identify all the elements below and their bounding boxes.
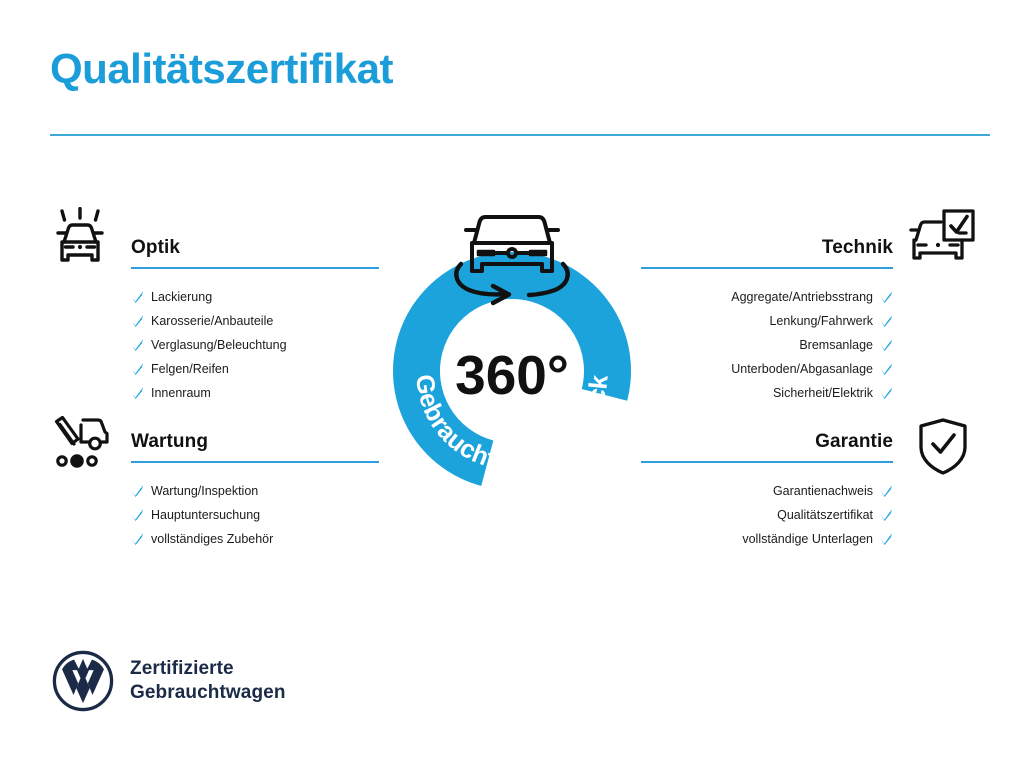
check-icon [880, 386, 893, 400]
list-item: vollständige Unterlagen [641, 527, 893, 551]
check-icon [880, 362, 893, 376]
page-title: Qualitätszertifikat [50, 48, 393, 90]
section-optik: Optik Lackierung Karosserie/Anbauteile V… [131, 238, 379, 405]
list-item-label: Garantienachweis [773, 479, 873, 503]
list-item-label: Qualitätszertifikat [777, 503, 873, 527]
list-item-label: Verglasung/Beleuchtung [151, 333, 287, 357]
list-item: Lenkung/Fahrwerk [641, 309, 893, 333]
list-item-label: Hauptuntersuchung [151, 503, 260, 527]
check-icon [131, 290, 144, 304]
section-title-optik: Optik [131, 238, 379, 259]
section-garantie: Garantie Garantienachweis Qualitätszerti… [641, 432, 893, 551]
section-title-garantie: Garantie [641, 432, 893, 453]
list-item: Verglasung/Beleuchtung [131, 333, 379, 357]
vw-logo [52, 650, 114, 712]
car-checkbox-icon [908, 209, 976, 272]
badge-360-gebrauchtwagen-check: Gebrauchtwagen-Check 360° [381, 196, 643, 488]
checklist-optik: Lackierung Karosserie/Anbauteile Verglas… [131, 285, 379, 405]
section-title-wartung: Wartung [131, 432, 379, 453]
list-item: Innenraum [131, 381, 379, 405]
check-icon [131, 314, 144, 328]
pen-car-service-icon [48, 414, 112, 479]
list-item: Garantienachweis [641, 479, 893, 503]
footer-logo: Zertifizierte Gebrauchtwagen [52, 650, 286, 712]
list-item-label: Wartung/Inspektion [151, 479, 258, 503]
check-icon [880, 290, 893, 304]
check-icon [131, 338, 144, 352]
footer-line-1: Zertifizierte [130, 657, 286, 681]
shield-check-icon [915, 417, 971, 482]
section-divider-wartung [131, 461, 379, 463]
check-icon [131, 386, 144, 400]
list-item: Aggregate/Antriebsstrang [641, 285, 893, 309]
list-item: Unterboden/Abgasanlage [641, 357, 893, 381]
list-item-label: Bremsanlage [799, 333, 873, 357]
badge-center-label: 360° [455, 344, 569, 406]
list-item: Lackierung [131, 285, 379, 309]
footer-logo-text: Zertifizierte Gebrauchtwagen [130, 657, 286, 706]
list-item: Wartung/Inspektion [131, 479, 379, 503]
list-item: Felgen/Reifen [131, 357, 379, 381]
list-item: vollständiges Zubehör [131, 527, 379, 551]
check-icon [131, 362, 144, 376]
list-item: Karosserie/Anbauteile [131, 309, 379, 333]
section-title-technik: Technik [641, 238, 893, 259]
check-icon [131, 508, 144, 522]
check-icon [880, 508, 893, 522]
section-divider-optik [131, 267, 379, 269]
list-item: Hauptuntersuchung [131, 503, 379, 527]
section-wartung: Wartung Wartung/Inspektion Hauptuntersuc… [131, 432, 379, 551]
section-technik: Technik Aggregate/Antriebsstrang Lenkung… [641, 238, 893, 405]
check-icon [880, 338, 893, 352]
list-item-label: vollständiges Zubehör [151, 527, 273, 551]
list-item-label: Lenkung/Fahrwerk [769, 309, 873, 333]
section-divider-garantie [641, 461, 893, 463]
list-item: Sicherheit/Elektrik [641, 381, 893, 405]
check-icon [131, 484, 144, 498]
list-item: Bremsanlage [641, 333, 893, 357]
list-item: Qualitätszertifikat [641, 503, 893, 527]
list-item-label: vollständige Unterlagen [742, 527, 873, 551]
car-shine-icon [48, 207, 112, 274]
check-icon [880, 314, 893, 328]
list-item-label: Felgen/Reifen [151, 357, 229, 381]
section-divider-technik [641, 267, 893, 269]
list-item-label: Aggregate/Antriebsstrang [731, 285, 873, 309]
checklist-wartung: Wartung/Inspektion Hauptuntersuchung vol… [131, 479, 379, 551]
title-divider [50, 134, 990, 136]
list-item-label: Sicherheit/Elektrik [773, 381, 873, 405]
list-item-label: Innenraum [151, 381, 211, 405]
footer-line-2: Gebrauchtwagen [130, 681, 286, 705]
check-icon [880, 484, 893, 498]
check-icon [880, 532, 893, 546]
list-item-label: Unterboden/Abgasanlage [731, 357, 873, 381]
list-item-label: Lackierung [151, 285, 212, 309]
list-item-label: Karosserie/Anbauteile [151, 309, 273, 333]
checklist-garantie: Garantienachweis Qualitätszertifikat vol… [641, 479, 893, 551]
check-icon [131, 532, 144, 546]
checklist-technik: Aggregate/Antriebsstrang Lenkung/Fahrwer… [641, 285, 893, 405]
